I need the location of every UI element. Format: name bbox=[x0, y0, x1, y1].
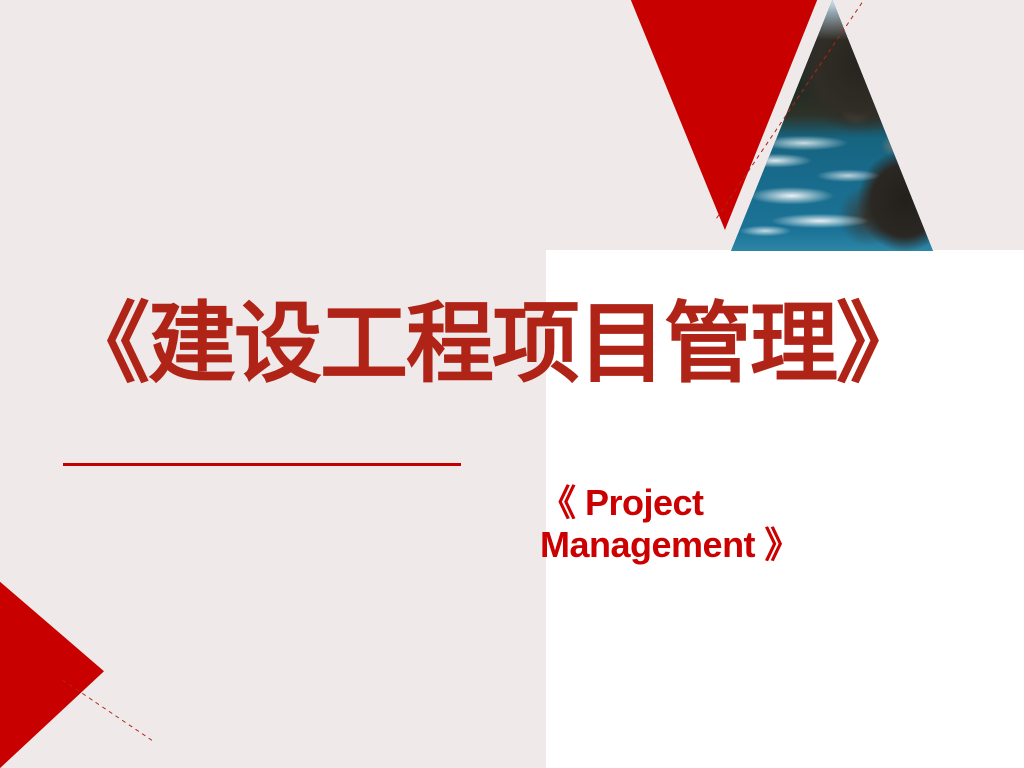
slide-title: 《建设工程项目管理》 bbox=[62, 298, 922, 390]
slide-subtitle: 《 Project Management 》 bbox=[540, 482, 840, 567]
red-left-triangle-icon bbox=[0, 580, 104, 768]
title-slide: 《建设工程项目管理》 《 Project Management 》 bbox=[0, 0, 1024, 768]
slide-subtitle-line-1: 《 Project bbox=[540, 482, 840, 524]
title-divider-rule bbox=[63, 463, 461, 466]
dashed-diagonal-line-bottom-left bbox=[62, 680, 152, 741]
slide-subtitle-line-2: Management 》 bbox=[540, 524, 840, 566]
